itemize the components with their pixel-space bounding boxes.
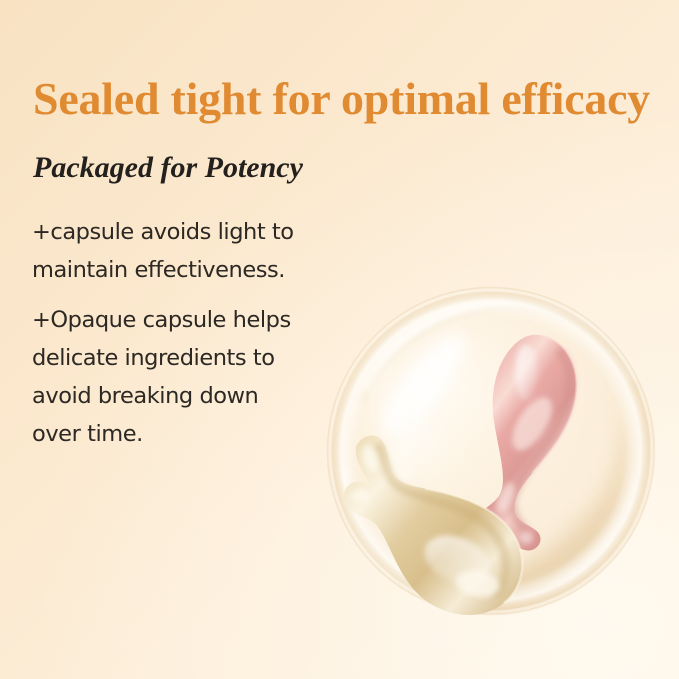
- benefit-text-2: +Opaque capsule helps delicate ingredien…: [32, 301, 362, 453]
- pink-softgel-capsule: [457, 327, 588, 553]
- product-benefit-poster: Sealed tight for optimal efficacy Packag…: [0, 0, 679, 679]
- benefit-paragraph-1: +capsule avoids light to maintain effect…: [32, 213, 362, 289]
- translucent-sphere: [322, 288, 654, 615]
- cream-softgel-capsule: [337, 421, 527, 626]
- page-title: Sealed tight for optimal efficacy: [33, 74, 679, 124]
- benefit-text-1: +capsule avoids light to maintain effect…: [32, 213, 362, 289]
- page-subtitle: Packaged for Potency: [33, 150, 303, 186]
- capsule-artwork: [316, 276, 666, 626]
- benefit-paragraph-2: +Opaque capsule helps delicate ingredien…: [32, 301, 362, 453]
